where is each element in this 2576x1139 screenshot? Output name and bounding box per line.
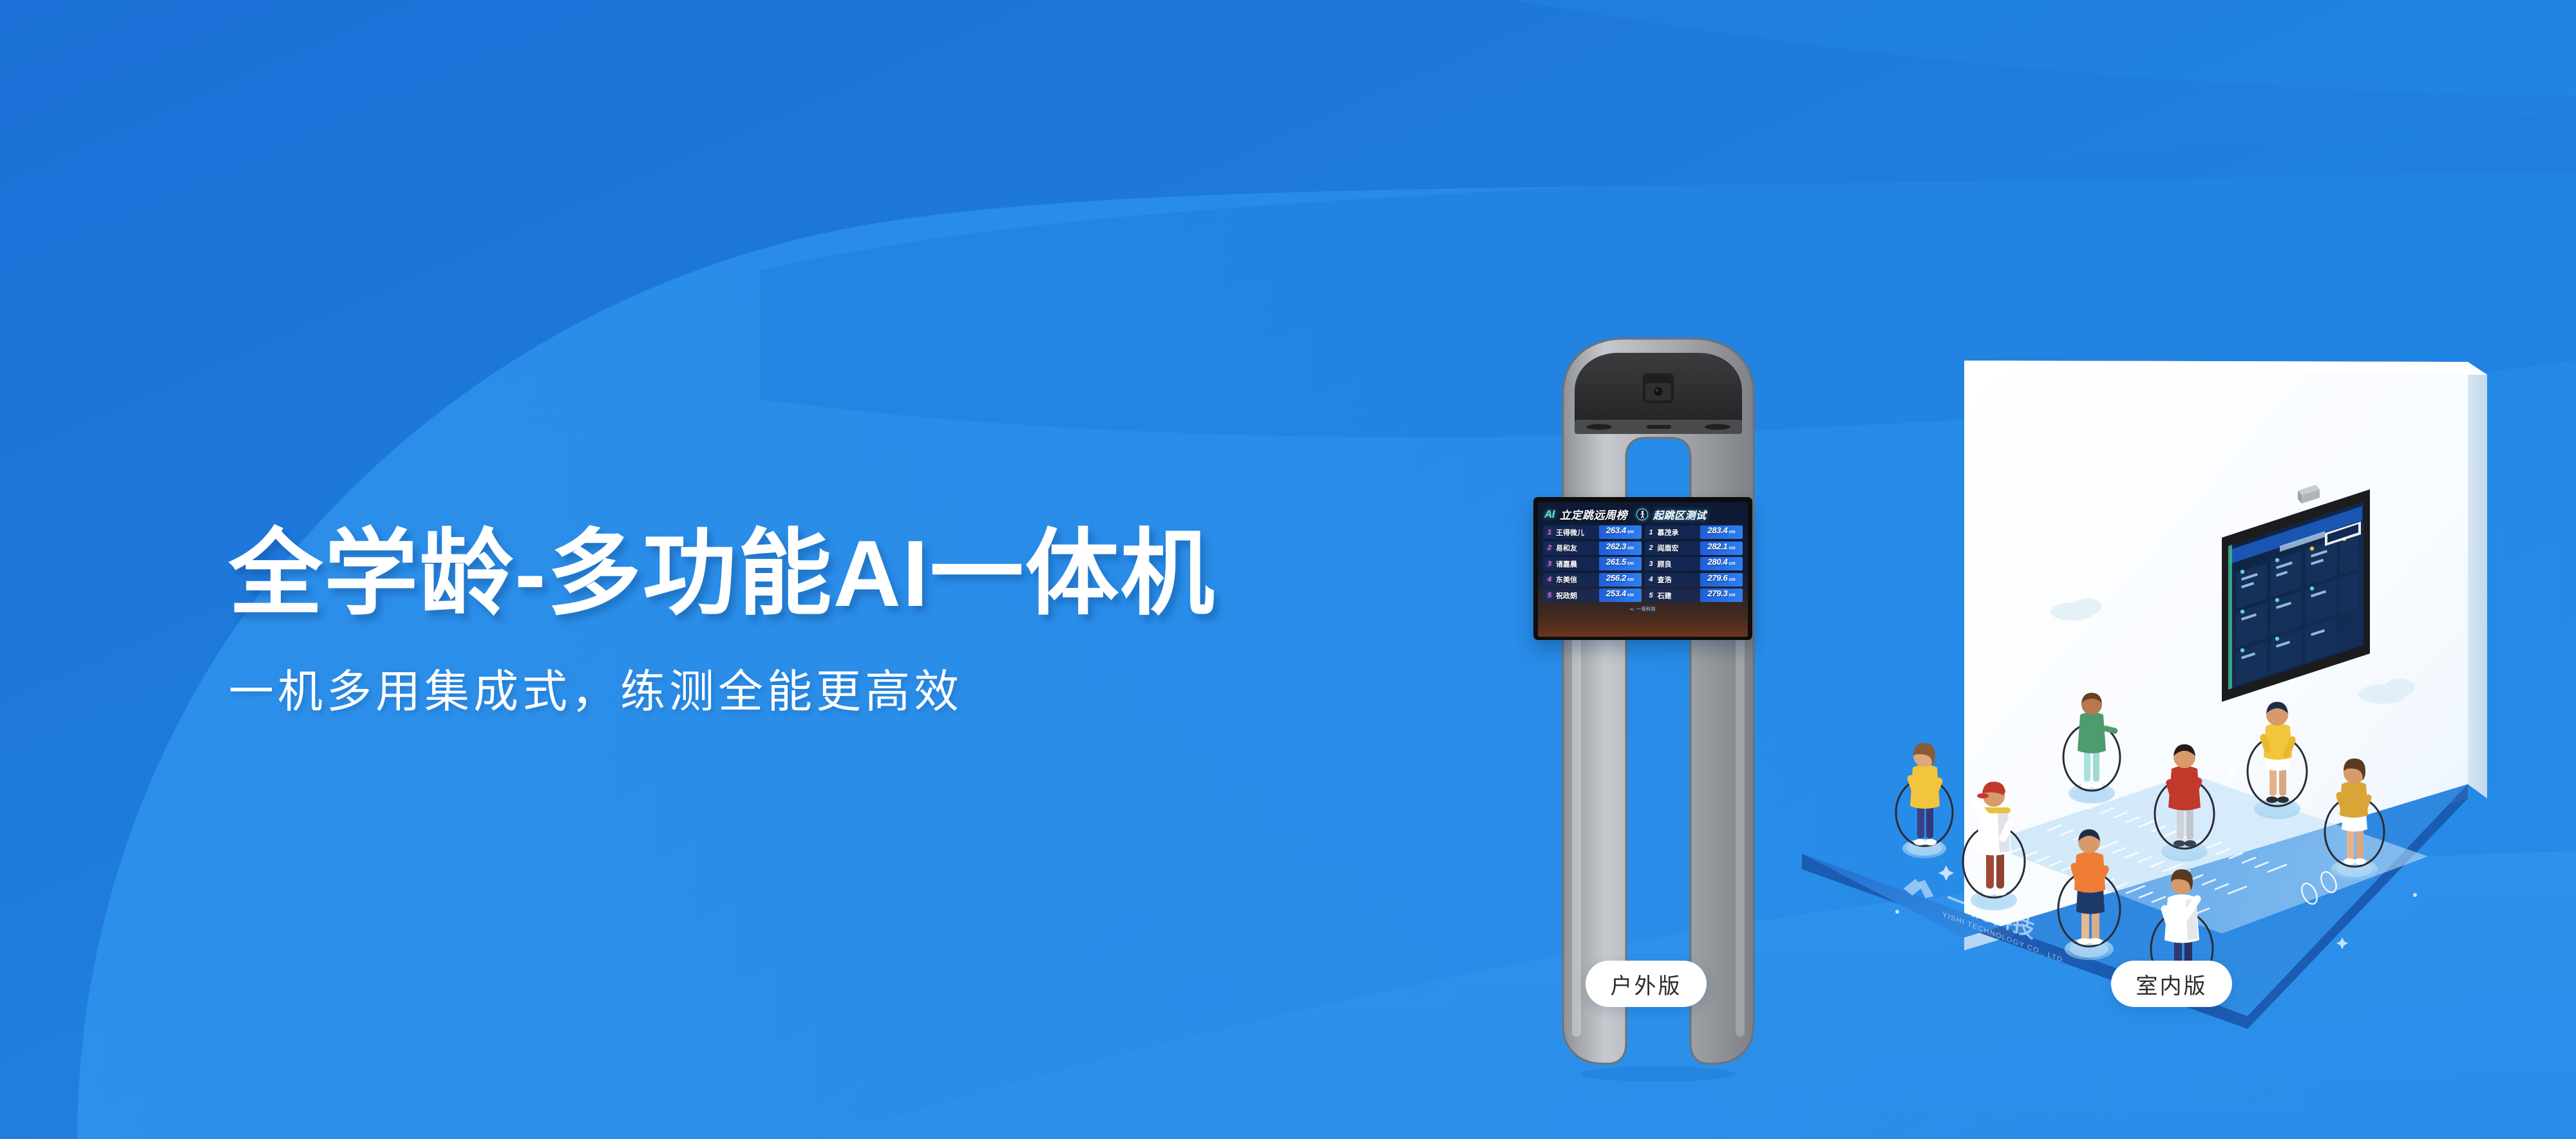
promo-banner: 全学龄-多功能AI一体机 一机多用集成式，练测全能更高效 — [0, 0, 2576, 1139]
table-row: 5 石建 279.3 cm — [1645, 588, 1743, 602]
score-value: 261.5 — [1606, 557, 1626, 567]
leaderboard-title: 立定跳远周榜 — [1560, 506, 1627, 522]
athlete-name: 慕茂承 — [1655, 527, 1701, 538]
banner-copy: 全学龄-多功能AI一体机 一机多用集成式，练测全能更高效 — [229, 518, 1517, 721]
walking-person-icon — [1636, 509, 1648, 520]
athlete-name: 阎眉宏 — [1655, 543, 1701, 553]
score-unit: cm — [1728, 593, 1735, 598]
score-unit: cm — [1728, 530, 1735, 534]
participant-figure — [1896, 743, 1953, 858]
table-row: 2 易和友 262.3 cm — [1543, 541, 1642, 555]
rank-number: 4 — [1546, 576, 1553, 583]
score-chip: 262.3 cm — [1599, 541, 1642, 555]
score-chip: 253.4 cm — [1599, 588, 1642, 602]
yishi-logo-mark: •‹ — [1630, 606, 1634, 612]
score-chip: 256.2 cm — [1599, 573, 1642, 587]
person-glyph — [1639, 511, 1646, 518]
athlete-name: 王得微儿 — [1553, 527, 1599, 538]
table-row: 1 慕茂承 283.4 cm — [1645, 525, 1743, 539]
product-showcase: AI 立定跳远周榜 起跳区测试 1 — [1513, 277, 2518, 1037]
table-row: 2 阎眉宏 282.1 cm — [1645, 541, 1743, 555]
screen-footer: •‹ 一视科技 — [1538, 605, 1748, 614]
score-value: 253.4 — [1606, 588, 1626, 598]
table-row: 5 祝政朗 253.4 cm — [1543, 588, 1642, 602]
score-chip: 280.4 cm — [1700, 557, 1743, 570]
table-row: 1 王得微儿 263.4 cm — [1543, 525, 1642, 539]
score-chip: 283.4 cm — [1700, 525, 1743, 539]
leaderboard-column-left: 1 王得微儿 263.4 cm 2 易和友 — [1543, 525, 1642, 602]
score-value: 280.4 — [1707, 557, 1727, 567]
table-row: 4 东美信 256.2 cm — [1543, 573, 1642, 587]
page-subtitle: 一机多用集成式，练测全能更高效 — [229, 663, 1517, 721]
score-value: 279.3 — [1707, 588, 1727, 598]
table-row: 3 诸嘉晨 261.5 cm — [1543, 557, 1642, 570]
page-title: 全学龄-多功能AI一体机 — [229, 518, 1517, 629]
rank-number: 2 — [1546, 544, 1553, 552]
outdoor-screen-display: AI 立定跳远周榜 起跳区测试 1 — [1538, 502, 1748, 637]
score-chip: 279.3 cm — [1700, 588, 1743, 602]
score-value: 279.6 — [1707, 573, 1727, 583]
rank-number: 1 — [1647, 529, 1655, 536]
score-chip: 279.6 cm — [1700, 573, 1743, 587]
athlete-name: 祝政朗 — [1553, 590, 1599, 601]
score-chip: 263.4 cm — [1599, 525, 1642, 539]
score-value: 256.2 — [1606, 573, 1626, 583]
score-unit: cm — [1627, 578, 1634, 582]
athlete-name: 东美信 — [1553, 574, 1599, 585]
rank-number: 1 — [1546, 529, 1553, 536]
score-value: 263.4 — [1606, 525, 1626, 535]
athlete-name: 诸嘉晨 — [1553, 559, 1599, 569]
badge-indoor-version[interactable]: 室内版 — [2111, 961, 2232, 1007]
table-row: 4 查浩 279.6 cm — [1645, 573, 1743, 587]
score-unit: cm — [1728, 546, 1735, 551]
leaderboard-column-right: 1 慕茂承 283.4 cm 2 阎眉宏 — [1645, 525, 1743, 602]
outdoor-screen[interactable]: AI 立定跳远周榜 起跳区测试 1 — [1533, 497, 1752, 640]
rank-number: 5 — [1546, 592, 1553, 599]
score-unit: cm — [1627, 561, 1634, 566]
athlete-name: 石建 — [1655, 590, 1701, 601]
score-chip: 261.5 cm — [1599, 557, 1642, 570]
leaderboard-subtitle: 起跳区测试 — [1653, 507, 1707, 522]
ai-badge-text: AI — [1544, 508, 1555, 521]
athlete-name: 顾良 — [1655, 559, 1701, 569]
rank-number: 5 — [1647, 592, 1655, 599]
leaderboard-table: 1 王得微儿 263.4 cm 2 易和友 — [1538, 523, 1748, 602]
footer-brand-text: 一视科技 — [1636, 606, 1656, 612]
score-unit: cm — [1627, 593, 1634, 598]
score-value: 262.3 — [1606, 541, 1626, 551]
score-chip: 282.1 cm — [1700, 541, 1743, 555]
score-value: 282.1 — [1707, 541, 1727, 551]
table-row: 3 顾良 280.4 cm — [1645, 557, 1743, 570]
athlete-name: 易和友 — [1553, 543, 1599, 553]
score-unit: cm — [1728, 578, 1735, 582]
score-unit: cm — [1627, 546, 1634, 551]
athlete-name: 查浩 — [1655, 574, 1701, 585]
score-unit: cm — [1627, 530, 1634, 534]
indoor-device-scene[interactable]: 一视科技 YISHI TECHNOLOGY CO., LTD. — [1771, 290, 2518, 1050]
score-value: 283.4 — [1707, 525, 1727, 535]
badge-outdoor-version[interactable]: 户外版 — [1586, 961, 1707, 1007]
score-unit: cm — [1728, 561, 1735, 566]
rank-number: 2 — [1647, 544, 1655, 552]
indoor-isometric-illustration: 一视科技 YISHI TECHNOLOGY CO., LTD. — [1771, 290, 2518, 1050]
leaderboard-header: AI 立定跳远周榜 起跳区测试 — [1538, 502, 1748, 523]
rank-number: 4 — [1647, 576, 1655, 583]
rank-number: 3 — [1647, 560, 1655, 568]
rank-number: 3 — [1546, 560, 1553, 568]
